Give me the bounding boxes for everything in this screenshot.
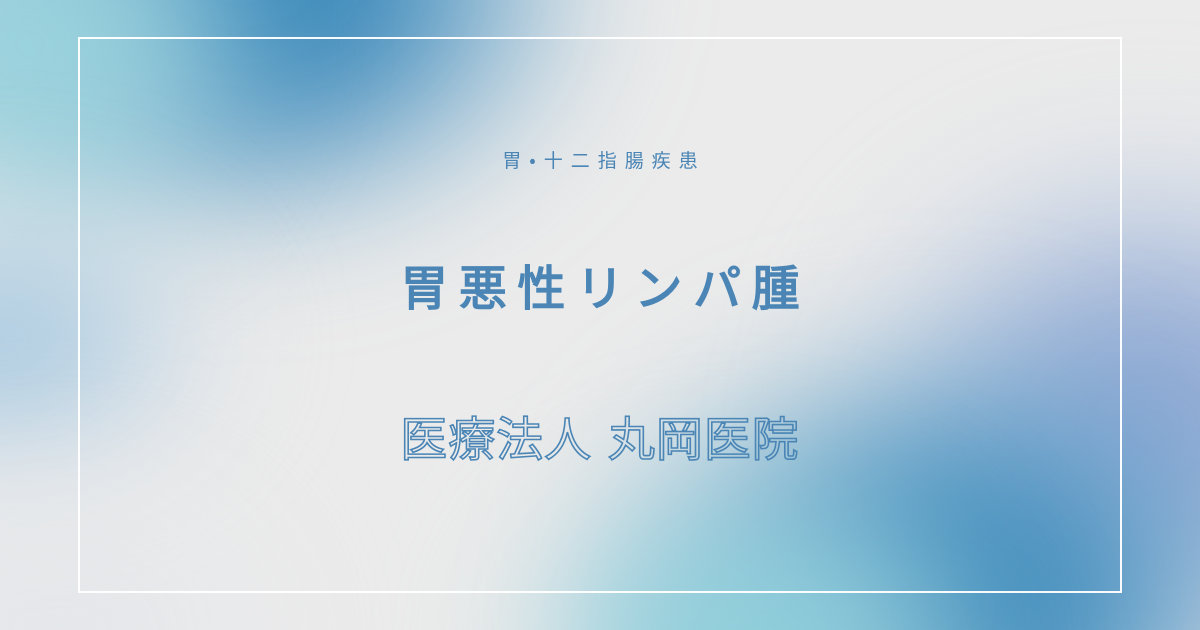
text-stack: 胃・十二指腸疾患 胃悪性リンパ腫 医療法人 丸岡医院 xyxy=(0,0,1200,630)
page-title: 胃悪性リンパ腫 xyxy=(390,263,810,316)
organization-name: 医療法人 丸岡医院 xyxy=(400,414,799,468)
title-card: 胃・十二指腸疾患 胃悪性リンパ腫 医療法人 丸岡医院 xyxy=(0,0,1200,630)
category-eyebrow: 胃・十二指腸疾患 xyxy=(494,150,705,173)
